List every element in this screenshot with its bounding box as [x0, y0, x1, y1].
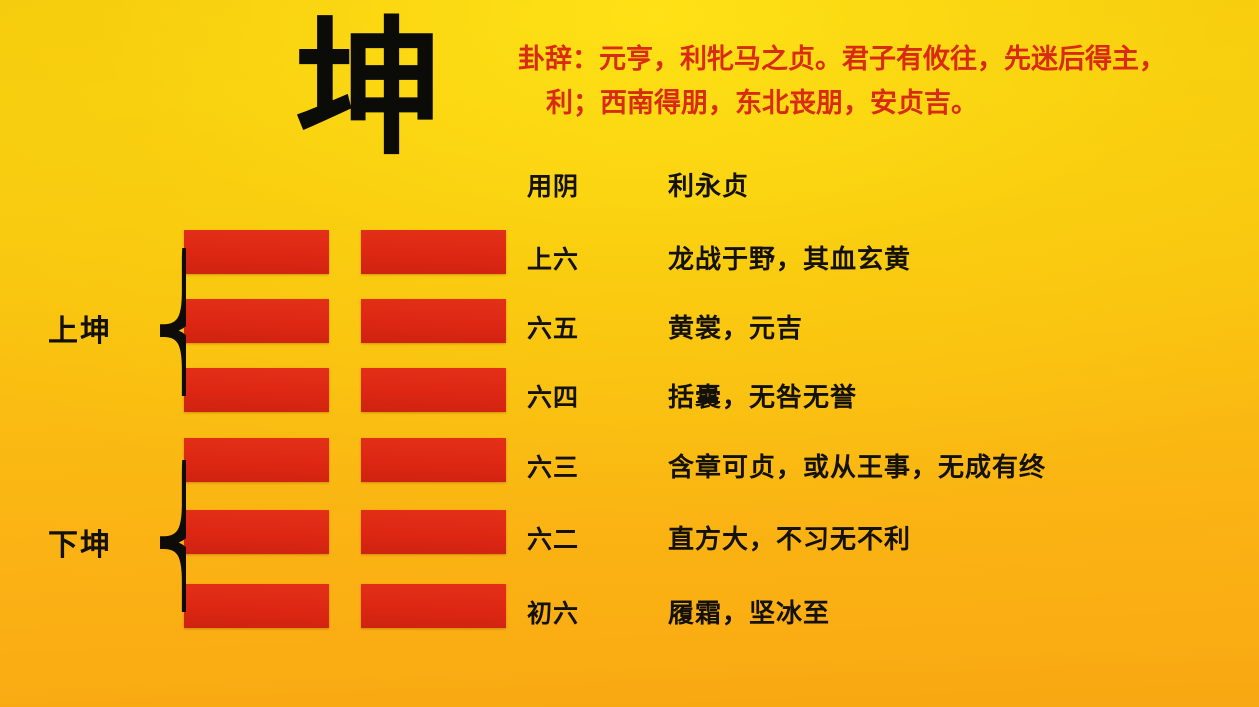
- hexagram-line-liu-wu: [184, 299, 506, 343]
- upper-trigram-brace: {: [140, 248, 186, 396]
- judgement-line-1: 卦辞：元亨，利牝马之贞。君子有攸往，先迷后得主，: [518, 38, 1254, 82]
- line-text-liu-er: 直方大，不习无不利: [668, 519, 911, 556]
- yin-bar-right: [361, 299, 506, 343]
- yin-bar-left: [184, 584, 329, 628]
- line-text-liu-wu: 黄裳，元吉: [668, 308, 803, 345]
- line-label-liu-er: 六二: [527, 520, 579, 556]
- line-label-liu-wu: 六五: [527, 309, 579, 345]
- yin-bar-left: [184, 368, 329, 412]
- line-text-shang-liu: 龙战于野，其血玄黄: [668, 239, 911, 276]
- yin-bar-left: [184, 438, 329, 482]
- hexagram-line-chu-liu: [184, 584, 506, 628]
- yin-bar-left: [184, 230, 329, 274]
- yin-bar-right: [361, 368, 506, 412]
- hexagram-line-liu-er: [184, 510, 506, 554]
- hexagram-line-liu-si: [184, 368, 506, 412]
- summary-row-text: 利永贞: [668, 166, 749, 203]
- judgement-text: 卦辞：元亨，利牝马之贞。君子有攸往，先迷后得主， 利；西南得朋，东北丧朋，安贞吉…: [518, 38, 1254, 125]
- line-label-chu-liu: 初六: [527, 594, 579, 630]
- yin-bar-left: [184, 510, 329, 554]
- yin-bar-left: [184, 299, 329, 343]
- page-title: 坤: [295, 15, 443, 163]
- line-text-liu-si: 括囊，无咎无誉: [668, 377, 857, 414]
- line-text-liu-san: 含章可贞，或从王事，无成有终: [668, 447, 1046, 484]
- lower-trigram-brace: {: [140, 460, 186, 612]
- yin-bar-right: [361, 584, 506, 628]
- line-label-liu-san: 六三: [527, 448, 579, 484]
- lower-trigram-label: 下坤: [48, 520, 112, 564]
- summary-row-label: 用阴: [527, 167, 579, 203]
- hexagram-slide: 坤 卦辞：元亨，利牝马之贞。君子有攸往，先迷后得主， 利；西南得朋，东北丧朋，安…: [0, 0, 1259, 707]
- yin-bar-right: [361, 438, 506, 482]
- judgement-line-2: 利；西南得朋，东北丧朋，安贞吉。: [518, 82, 1254, 126]
- hexagram-line-shang-liu: [184, 230, 506, 274]
- line-label-shang-liu: 上六: [527, 240, 579, 276]
- hexagram-line-liu-san: [184, 438, 506, 482]
- line-label-liu-si: 六四: [527, 378, 579, 414]
- yin-bar-right: [361, 230, 506, 274]
- yin-bar-right: [361, 510, 506, 554]
- upper-trigram-label: 上坤: [48, 306, 112, 350]
- line-text-chu-liu: 履霜，坚冰至: [668, 593, 830, 630]
